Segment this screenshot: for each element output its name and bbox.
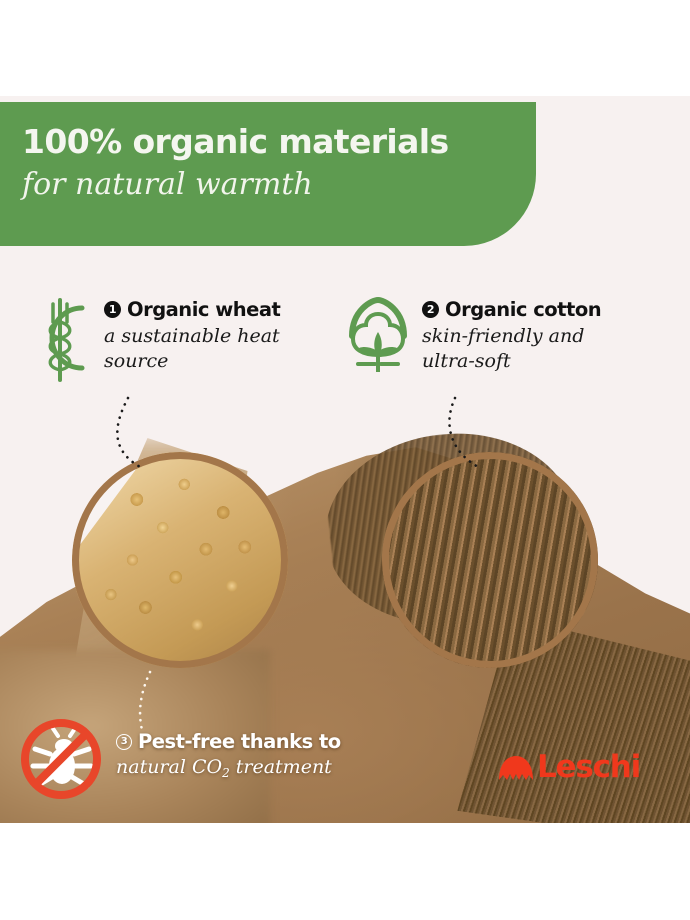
- feature-cotton-text: 2 Organic cotton skin-friendly and ultra…: [422, 292, 637, 374]
- magnifier-wheat-grains: [72, 452, 288, 668]
- cotton-knit-texture: [382, 452, 598, 668]
- feature-wheat-text: 1 Organic wheat a sustainable heat sourc…: [104, 292, 319, 374]
- feature-cotton-description: skin-friendly and ultra-soft: [422, 324, 637, 374]
- no-pest-icon: [18, 716, 104, 802]
- feature-organic-cotton: 2 Organic cotton skin-friendly and ultra…: [344, 292, 674, 384]
- feature-wheat-description: a sustainable heat source: [104, 324, 319, 374]
- feature-cotton-heading: 2 Organic cotton: [422, 298, 637, 321]
- bottom-margin: [0, 823, 690, 920]
- brand-logo[interactable]: Leschi: [498, 752, 640, 783]
- header-banner: 100% organic materials for natural warmt…: [0, 102, 536, 246]
- badge-number-1: 1: [104, 301, 121, 318]
- pest-desc-subscript: 2: [222, 766, 230, 780]
- badge-number-3: 3: [116, 734, 132, 750]
- feature-pest-description: natural CO2 treatment: [116, 755, 341, 782]
- infographic-canvas: 100% organic materials for natural warmt…: [0, 0, 690, 920]
- pest-desc-suffix: treatment: [230, 756, 332, 778]
- feature-pest-heading: 3 Pest-free thanks to: [116, 730, 341, 753]
- page-title: 100% organic materials: [22, 124, 536, 160]
- badge-number-2: 2: [422, 301, 439, 318]
- magnifier-cotton-knit: [382, 452, 598, 668]
- feature-wheat-heading-label: Organic wheat: [127, 298, 280, 321]
- brand-name: Leschi: [537, 752, 640, 783]
- wheat-ring-icon: [26, 292, 94, 384]
- feature-pest-free: 3 Pest-free thanks to natural CO2 treatm…: [18, 716, 341, 802]
- page-subtitle: for natural warmth: [22, 168, 536, 203]
- pest-desc-prefix: natural CO: [116, 756, 222, 778]
- feature-pest-heading-label: Pest-free thanks to: [138, 730, 341, 753]
- hill-mark-icon: [498, 755, 534, 781]
- feature-cotton-heading-label: Organic cotton: [445, 298, 601, 321]
- cotton-boll-icon: [344, 292, 412, 384]
- feature-organic-wheat: 1 Organic wheat a sustainable heat sourc…: [26, 292, 336, 384]
- feature-wheat-heading: 1 Organic wheat: [104, 298, 319, 321]
- feature-pest-text: 3 Pest-free thanks to natural CO2 treatm…: [116, 716, 341, 782]
